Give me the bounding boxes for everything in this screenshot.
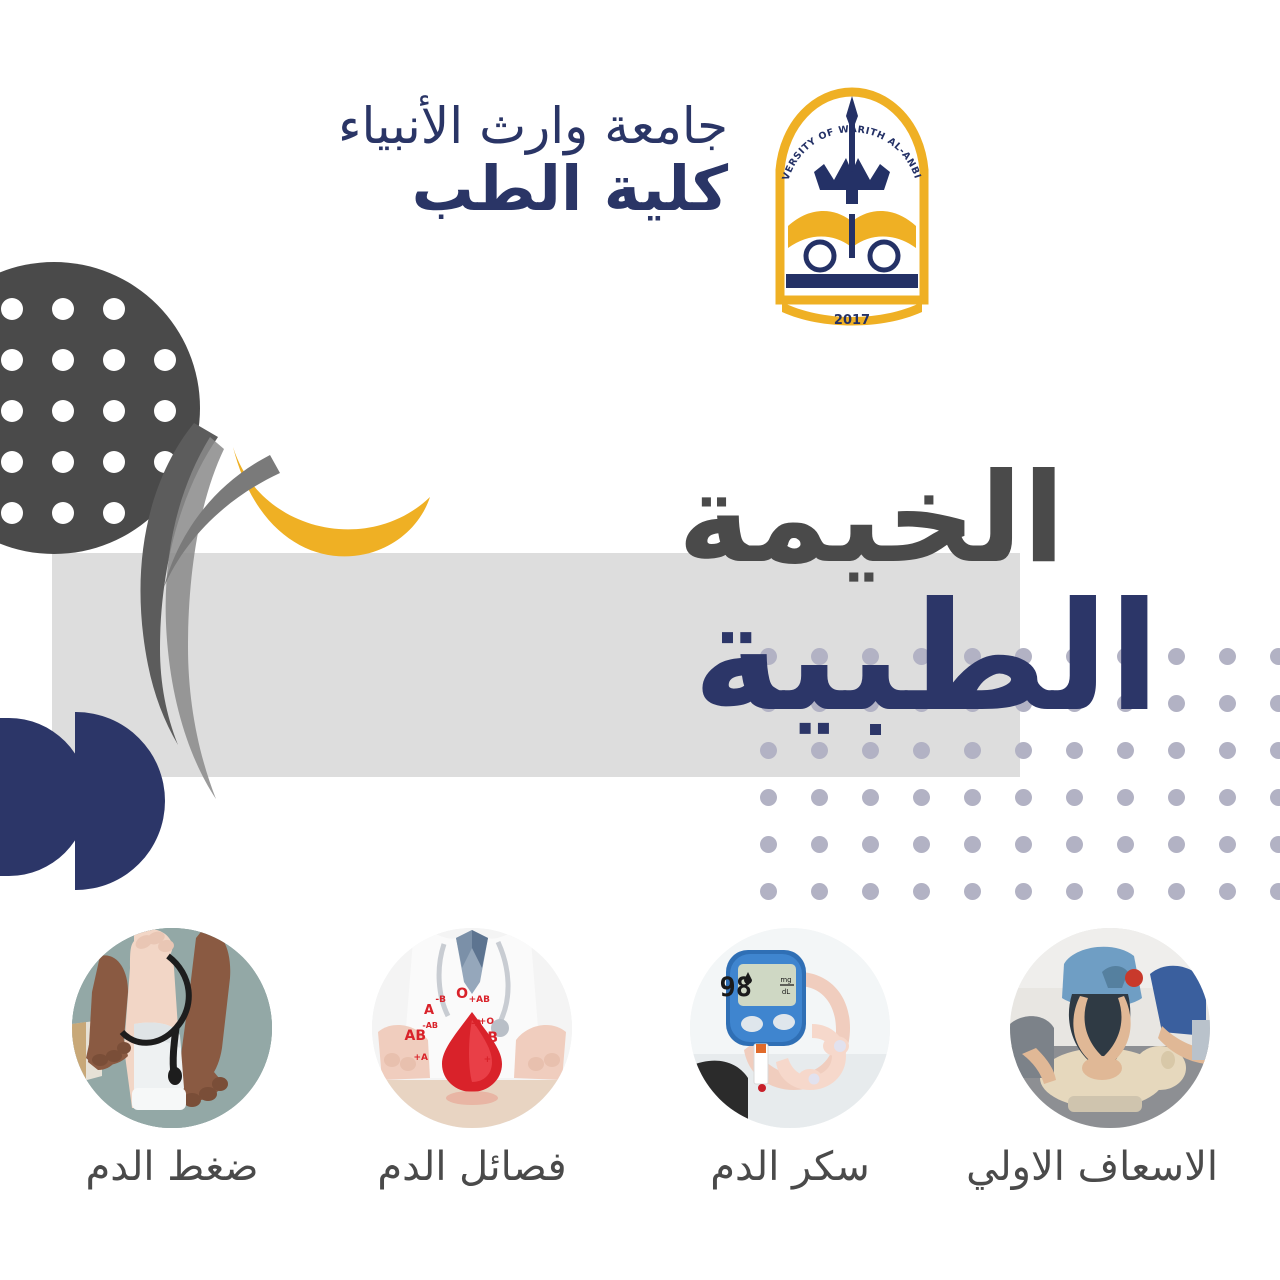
logo-book-spine — [849, 214, 855, 258]
circle-dot-hole — [1, 400, 23, 422]
grid-dot — [1219, 789, 1236, 806]
college-name: كلية الطب — [338, 155, 728, 223]
service-label-blood-sugar: سكر الدم — [682, 1144, 898, 1190]
grid-dot — [760, 789, 777, 806]
grid-dot — [964, 883, 981, 900]
grid-dot — [1015, 883, 1032, 900]
grid-dot — [964, 836, 981, 853]
grid-dot — [1270, 836, 1280, 853]
blood-sugar-photo: 98 mg dL — [690, 928, 890, 1128]
grid-dot — [811, 789, 828, 806]
grid-dot — [862, 789, 879, 806]
header-text-block: جامعة وارث الأنبياء كلية الطب — [338, 86, 728, 223]
circle-dot-hole — [52, 298, 74, 320]
svg-text:B-: B- — [435, 995, 446, 1005]
circle-dot-hole — [52, 400, 74, 422]
grid-dot — [913, 836, 930, 853]
service-label-first-aid: الاسعاف الاولي — [1002, 1144, 1218, 1190]
grid-dot — [1270, 695, 1280, 712]
grid-dot — [1066, 836, 1083, 853]
grid-dot — [1270, 789, 1280, 806]
grid-dot — [913, 883, 930, 900]
grid-dot — [760, 836, 777, 853]
service-item-blood-pressure[interactable]: ضغط الدم — [64, 928, 280, 1190]
grid-dot — [1270, 648, 1280, 665]
poster-title: الخيمة الطبية — [0, 455, 1230, 785]
service-item-first-aid[interactable]: الاسعاف الاولي — [1002, 928, 1218, 1190]
grid-dot — [1270, 883, 1280, 900]
svg-text:B: B — [487, 1030, 498, 1046]
grid-dot — [811, 836, 828, 853]
service-item-blood-sugar[interactable]: 98 mg dL سكر الدم — [682, 928, 898, 1190]
grid-dot — [1168, 836, 1185, 853]
logo-ornament-left — [806, 242, 834, 270]
grid-dot — [1219, 836, 1236, 853]
logo-arabic-word-band — [786, 274, 918, 288]
svg-text:AB+: AB+ — [469, 995, 491, 1005]
svg-text:mg: mg — [780, 976, 791, 984]
grid-dot — [1168, 883, 1185, 900]
circle-dot-hole — [154, 349, 176, 371]
circle-dot-hole — [52, 349, 74, 371]
blood-types-photo: A AB A+ AB- B- O AB+ O+ A- B B+ — [372, 928, 572, 1128]
svg-text:AB-: AB- — [422, 1021, 438, 1030]
grid-dot — [1015, 789, 1032, 806]
circle-dot-hole — [1, 298, 23, 320]
poster-canvas: جامعة وارث الأنبياء كلية الطب — [0, 0, 1280, 1280]
grid-dot — [964, 789, 981, 806]
svg-text:A-: A- — [471, 1019, 482, 1029]
blood-pressure-illustration — [72, 928, 272, 1128]
circle-dot-hole — [1, 349, 23, 371]
title-line-2: الطبية — [693, 583, 1160, 733]
grid-dot — [760, 883, 777, 900]
service-item-blood-types[interactable]: A AB A+ AB- B- O AB+ O+ A- B B+ فصائل ال… — [364, 928, 580, 1190]
blood-pressure-photo — [72, 928, 272, 1128]
grid-dot — [1117, 883, 1134, 900]
service-label-blood-types: فصائل الدم — [364, 1144, 580, 1190]
first-aid-photo — [1010, 928, 1210, 1128]
university-logo: 2017 UNIVERSITY OF WARITH AL-ANBIYAA — [762, 86, 942, 334]
university-name: جامعة وارث الأنبياء — [338, 100, 728, 153]
circle-dot-hole — [154, 400, 176, 422]
logo-founded-year: 2017 — [834, 313, 870, 328]
circle-dot-hole — [103, 349, 125, 371]
grid-dot — [1015, 836, 1032, 853]
grid-dot — [811, 883, 828, 900]
circle-dot-hole — [103, 400, 125, 422]
grid-dot — [913, 789, 930, 806]
grid-dot — [862, 836, 879, 853]
glucose-meter-illustration: 98 mg dL — [690, 928, 890, 1128]
grid-dot — [1219, 883, 1236, 900]
svg-text:A+: A+ — [413, 1053, 428, 1063]
blood-types-illustration: A AB A+ AB- B- O AB+ O+ A- B B+ — [372, 928, 572, 1128]
svg-text:AB: AB — [404, 1028, 426, 1044]
title-line-1: الخيمة — [678, 457, 1065, 581]
header: جامعة وارث الأنبياء كلية الطب — [0, 86, 1280, 286]
services-row: الاسعاف الاولي — [0, 928, 1280, 1248]
circle-dot-hole — [103, 298, 125, 320]
service-label-blood-pressure: ضغط الدم — [64, 1144, 280, 1190]
logo-ornament-right — [870, 242, 898, 270]
svg-text:A: A — [424, 1003, 434, 1018]
grid-dot — [862, 883, 879, 900]
svg-text:dL: dL — [782, 988, 790, 996]
svg-text:B+: B+ — [484, 1055, 499, 1065]
grid-dot — [1117, 836, 1134, 853]
svg-text:O: O — [456, 986, 468, 1002]
cpr-training-illustration — [1010, 928, 1210, 1128]
grid-dot — [1117, 789, 1134, 806]
grid-dot — [1066, 789, 1083, 806]
grid-dot — [1168, 789, 1185, 806]
grid-dot — [1270, 742, 1280, 759]
grid-dot — [1066, 883, 1083, 900]
